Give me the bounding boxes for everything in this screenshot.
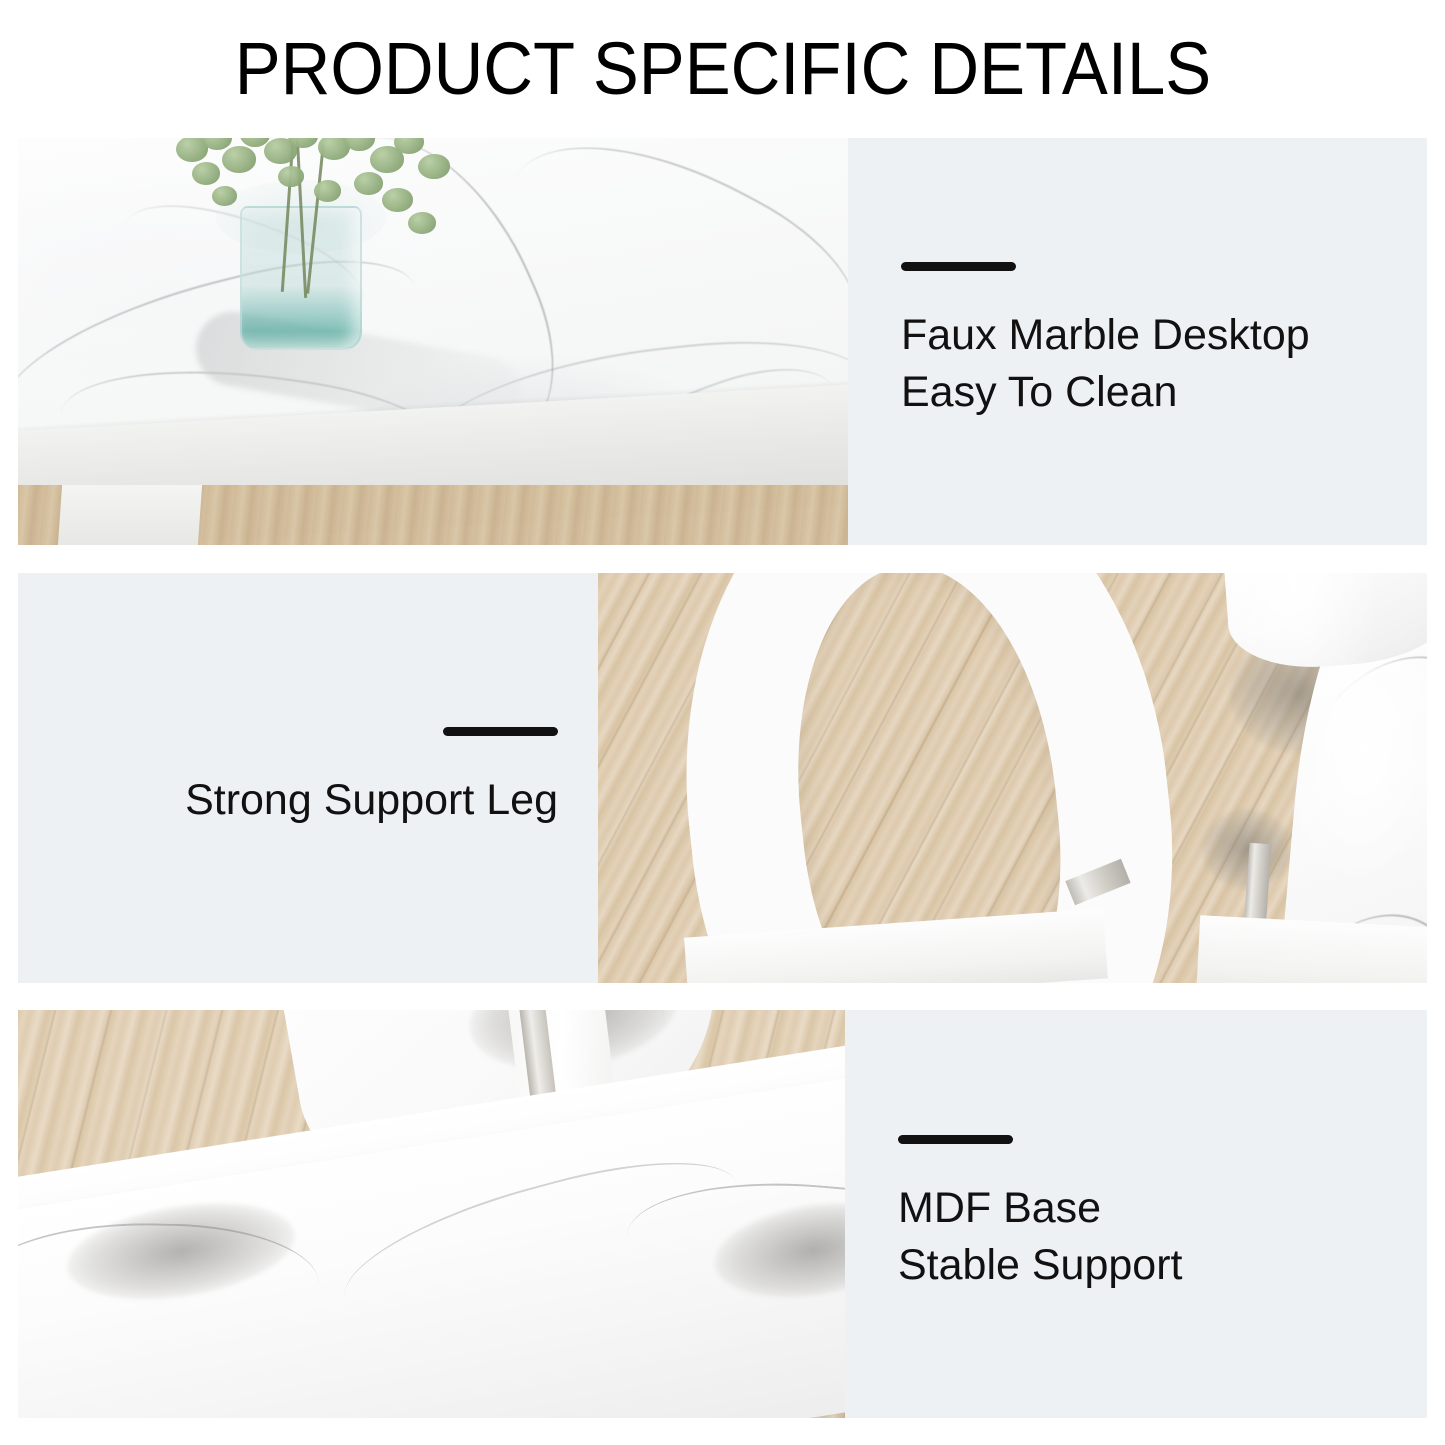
plant-and-vase <box>168 138 458 402</box>
accent-rule-icon <box>443 727 558 736</box>
base-plinth <box>1196 915 1427 983</box>
plant-leaf <box>314 180 341 202</box>
plant-leaf <box>212 186 237 206</box>
product-photo-mdf-base <box>18 1010 845 1418</box>
caption-line: Strong Support Leg <box>185 772 558 829</box>
page-title: PRODUCT SPECIFIC DETAILS <box>234 32 1210 106</box>
plant-leaf <box>222 146 256 173</box>
caption-line: MDF Base <box>898 1180 1407 1237</box>
plant-leaf <box>382 188 413 212</box>
caption-line: Stable Support <box>898 1237 1407 1294</box>
product-photo-support-leg <box>598 573 1427 983</box>
caption-line: Easy To Clean <box>901 364 1407 421</box>
plant-leaf <box>418 154 450 179</box>
feature-caption-2: Strong Support Leg <box>18 573 598 983</box>
plant-leaf <box>408 212 436 234</box>
plant-leaf <box>354 172 383 195</box>
accent-rule-icon <box>898 1135 1013 1144</box>
feature-section-faux-marble-desktop: Faux Marble Desktop Easy To Clean <box>18 138 1427 545</box>
table-leg-glimpse <box>57 485 201 545</box>
plant-leaf <box>192 162 220 185</box>
feature-caption-3: MDF Base Stable Support <box>845 1010 1427 1418</box>
product-photo-marble-desktop <box>18 138 848 545</box>
page-header: PRODUCT SPECIFIC DETAILS <box>0 0 1445 138</box>
feature-caption-1: Faux Marble Desktop Easy To Clean <box>848 138 1427 545</box>
plant-leaf <box>278 166 304 187</box>
accent-rule-icon <box>901 262 1016 271</box>
caption-line: Faux Marble Desktop <box>901 307 1407 364</box>
feature-section-strong-support-leg: Strong Support Leg <box>18 573 1427 983</box>
feature-section-mdf-base: MDF Base Stable Support <box>18 1010 1427 1418</box>
